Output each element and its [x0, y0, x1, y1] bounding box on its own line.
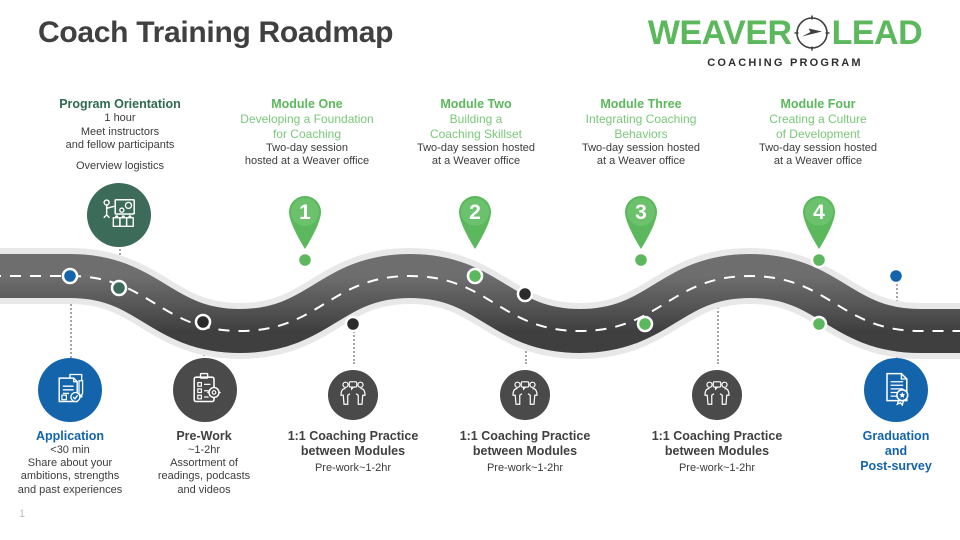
- coaching-practice-1-badge[interactable]: [328, 370, 378, 420]
- logo-word-right: LEAD: [832, 16, 923, 50]
- orientation-line-3: and fellow participants: [20, 139, 220, 152]
- pin-module-three[interactable]: 3: [618, 188, 664, 250]
- practice-2-title: 1:1 Coaching Practice between Modules: [444, 429, 606, 459]
- module-one-line-2: hosted at a Weaver office: [233, 155, 381, 168]
- orientation-line-1: 1 hour: [20, 112, 220, 125]
- road-marker-practice-1: [346, 317, 360, 331]
- application-document-icon: [52, 370, 88, 411]
- orientation-extra: Overview logistics: [20, 160, 220, 173]
- module-three-title: Module Three: [567, 97, 715, 112]
- road-marker-practice-3: [638, 317, 652, 331]
- orientation-title: Program Orientation: [20, 97, 220, 112]
- prework-badge[interactable]: [173, 358, 237, 422]
- road-marker-module-one: [298, 253, 312, 267]
- practice-2-line-1: Pre-work~1-2hr: [444, 462, 606, 475]
- bottom-label-practice-2: 1:1 Coaching Practice between Modules Pr…: [444, 429, 606, 475]
- two-people-conversation-icon: [510, 378, 540, 413]
- bottom-label-practice-1: 1:1 Coaching Practice between Modules Pr…: [272, 429, 434, 475]
- road-marker-prework: [196, 315, 210, 329]
- orientation-line-2: Meet instructors: [20, 126, 220, 139]
- coaching-practice-2-badge[interactable]: [500, 370, 550, 420]
- pin-module-two[interactable]: 2: [452, 188, 498, 250]
- two-people-conversation-icon: [702, 378, 732, 413]
- module-four-subtitle: Creating a Culture of Development: [744, 112, 892, 141]
- roadmap-road: [0, 236, 960, 371]
- module-three-subtitle: Integrating Coaching Behaviors: [567, 112, 715, 141]
- prework-line-4: and videos: [140, 484, 268, 497]
- prework-line-1: ~1-2hr: [140, 444, 268, 457]
- training-presentation-icon: [100, 194, 138, 237]
- module-two-line-2: at a Weaver office: [402, 155, 550, 168]
- module-one-line-1: Two-day session: [233, 142, 381, 155]
- page-number: 1: [19, 508, 25, 520]
- coaching-practice-3-badge[interactable]: [692, 370, 742, 420]
- road-marker-module-four-lower: [812, 317, 826, 331]
- two-people-conversation-icon: [338, 378, 368, 413]
- road-marker-orientation: [112, 281, 126, 295]
- logo-word-left: WEAVER: [648, 16, 792, 50]
- road-marker-module-two: [468, 269, 482, 283]
- pin-module-three-number: 3: [618, 190, 664, 236]
- top-label-module-two: Module Two Building a Coaching Skillset …: [402, 97, 550, 168]
- top-label-module-one: Module One Developing a Foundation for C…: [233, 97, 381, 168]
- module-four-line-2: at a Weaver office: [744, 155, 892, 168]
- top-label-module-four: Module Four Creating a Culture of Develo…: [744, 97, 892, 168]
- application-badge[interactable]: [38, 358, 102, 422]
- pin-module-four[interactable]: 4: [796, 188, 842, 250]
- bottom-label-practice-3: 1:1 Coaching Practice between Modules Pr…: [636, 429, 798, 475]
- roadmap-slide: Coach Training Roadmap WEAVER LEAD COACH…: [0, 0, 960, 540]
- module-two-title: Module Two: [402, 97, 550, 112]
- orientation-badge[interactable]: [87, 183, 151, 247]
- road-marker-graduation: [889, 269, 903, 283]
- bottom-label-prework: Pre-Work ~1-2hr Assortment of readings, …: [140, 429, 268, 497]
- pin-module-one[interactable]: 1: [282, 188, 328, 250]
- prework-line-2: Assortment of: [140, 457, 268, 470]
- weaver-lead-logo: WEAVER LEAD COACHING PROGRAM: [640, 14, 930, 69]
- road-marker-application: [63, 269, 77, 283]
- graduation-title: Graduation and Post-survey: [826, 429, 960, 474]
- road-marker-practice-2: [518, 287, 532, 301]
- application-line-3: ambitions, strengths: [2, 470, 138, 483]
- module-one-subtitle: Developing a Foundation for Coaching: [233, 112, 381, 141]
- practice-1-title: 1:1 Coaching Practice between Modules: [272, 429, 434, 459]
- application-title: Application: [2, 429, 138, 444]
- page-title: Coach Training Roadmap: [38, 16, 393, 50]
- application-line-1: <30 min: [2, 444, 138, 457]
- practice-3-line-1: Pre-work~1-2hr: [636, 462, 798, 475]
- road-marker-module-four: [812, 253, 826, 267]
- prework-line-3: readings, podcasts: [140, 470, 268, 483]
- module-two-subtitle: Building a Coaching Skillset: [402, 112, 550, 141]
- module-four-title: Module Four: [744, 97, 892, 112]
- practice-1-line-1: Pre-work~1-2hr: [272, 462, 434, 475]
- logo-subtitle: COACHING PROGRAM: [640, 57, 930, 69]
- compass-arrow-icon: [793, 14, 831, 52]
- module-four-line-1: Two-day session hosted: [744, 142, 892, 155]
- top-label-module-three: Module Three Integrating Coaching Behavi…: [567, 97, 715, 168]
- graduation-badge[interactable]: [864, 358, 928, 422]
- prework-title: Pre-Work: [140, 429, 268, 444]
- certificate-award-icon: [878, 370, 914, 411]
- module-three-line-1: Two-day session hosted: [567, 142, 715, 155]
- bottom-label-graduation: Graduation and Post-survey: [826, 429, 960, 474]
- bottom-label-application: Application <30 min Share about your amb…: [2, 429, 138, 497]
- practice-3-title: 1:1 Coaching Practice between Modules: [636, 429, 798, 459]
- module-two-line-1: Two-day session hosted: [402, 142, 550, 155]
- clipboard-gear-icon: [187, 370, 223, 411]
- road-marker-module-three: [634, 253, 648, 267]
- top-label-orientation: Program Orientation 1 hour Meet instruct…: [20, 97, 220, 174]
- pin-module-four-number: 4: [796, 190, 842, 236]
- module-one-title: Module One: [233, 97, 381, 112]
- module-three-line-2: at a Weaver office: [567, 155, 715, 168]
- pin-module-two-number: 2: [452, 190, 498, 236]
- pin-module-one-number: 1: [282, 190, 328, 236]
- application-line-2: Share about your: [2, 457, 138, 470]
- application-line-4: and past experiences: [2, 484, 138, 497]
